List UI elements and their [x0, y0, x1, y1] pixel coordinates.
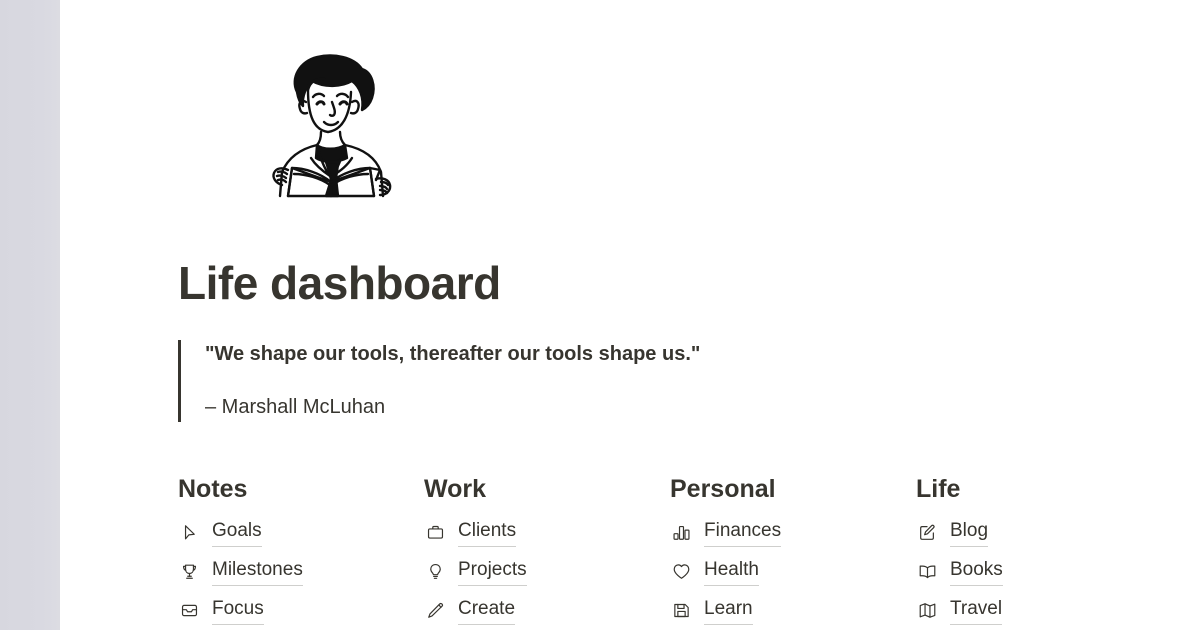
lightbulb-icon: [424, 561, 446, 583]
bar-chart-icon: [670, 522, 692, 544]
link-row-learn[interactable]: Learn: [670, 591, 916, 630]
link-label: Health: [704, 558, 759, 586]
link-label: Focus: [212, 597, 264, 625]
link-label: Projects: [458, 558, 527, 586]
link-row-health[interactable]: Health: [670, 552, 916, 591]
floppy-disk-icon: [670, 600, 692, 622]
column-title-notes: Notes: [178, 474, 424, 505]
cursor-arrow-icon: [178, 522, 200, 544]
link-row-projects[interactable]: Projects: [424, 552, 670, 591]
edit-square-icon: [916, 522, 938, 544]
left-panel-strip[interactable]: [0, 0, 60, 630]
column-title-personal: Personal: [670, 474, 916, 505]
heart-icon: [670, 561, 692, 583]
link-row-goals[interactable]: Goals: [178, 513, 424, 552]
quote-spacer: [205, 369, 998, 393]
briefcase-icon: [424, 522, 446, 544]
link-row-finances[interactable]: Finances: [670, 513, 916, 552]
column-notes: Notes Goals: [178, 474, 424, 630]
link-row-focus[interactable]: Focus: [178, 591, 424, 630]
link-label: Goals: [212, 519, 262, 547]
page-title: Life dashboard: [178, 258, 501, 310]
page-root: Life dashboard "We shape our tools, ther…: [0, 0, 1200, 630]
inbox-tray-icon: [178, 600, 200, 622]
link-label: Milestones: [212, 558, 303, 586]
trophy-icon: [178, 561, 200, 583]
quote-block: "We shape our tools, thereafter our tool…: [178, 340, 998, 422]
link-row-milestones[interactable]: Milestones: [178, 552, 424, 591]
link-row-blog[interactable]: Blog: [916, 513, 1162, 552]
link-row-travel[interactable]: Travel: [916, 591, 1162, 630]
link-row-clients[interactable]: Clients: [424, 513, 670, 552]
pencil-icon: [424, 600, 446, 622]
open-book-icon: [916, 561, 938, 583]
link-label: Travel: [950, 597, 1002, 625]
link-label: Finances: [704, 519, 781, 547]
column-title-life: Life: [916, 474, 1162, 505]
link-columns: Notes Goals: [178, 474, 1178, 630]
column-title-work: Work: [424, 474, 670, 505]
quote-text: "We shape our tools, thereafter our tool…: [205, 340, 998, 369]
quote-attribution: – Marshall McLuhan: [205, 393, 998, 422]
link-row-create[interactable]: Create: [424, 591, 670, 630]
main-content: Life dashboard "We shape our tools, ther…: [60, 0, 1200, 630]
link-label: Books: [950, 558, 1003, 586]
column-life: Life Blog: [916, 474, 1162, 630]
column-personal: Personal Finances: [670, 474, 916, 630]
folded-map-icon: [916, 600, 938, 622]
avatar[interactable]: [254, 46, 404, 198]
column-work: Work Clients: [424, 474, 670, 630]
link-label: Clients: [458, 519, 516, 547]
link-label: Learn: [704, 597, 753, 625]
link-label: Create: [458, 597, 515, 625]
link-label: Blog: [950, 519, 988, 547]
link-row-books[interactable]: Books: [916, 552, 1162, 591]
